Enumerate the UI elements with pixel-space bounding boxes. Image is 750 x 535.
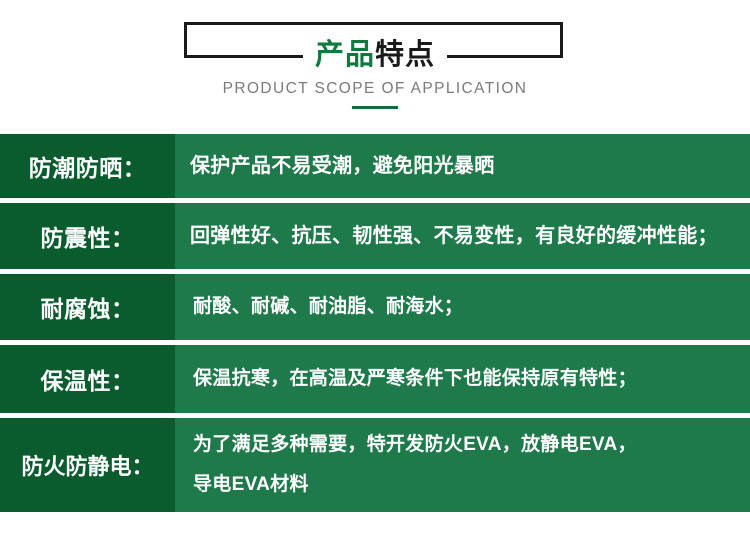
feature-row: 防震性： 回弹性好、抗压、韧性强、不易变性，有良好的缓冲性能； [0, 203, 750, 269]
feature-value: 保护产品不易受潮，避免阳光暴晒 [175, 134, 750, 198]
feature-value: 耐酸、耐碱、耐油脂、耐海水； [175, 274, 750, 340]
subtitle-underline-rule [352, 106, 398, 109]
feature-label: 耐腐蚀： [0, 274, 175, 340]
feature-value: 保温抗寒，在高温及严寒条件下也能保持原有特性； [175, 345, 750, 413]
feature-row: 防火防静电： 为了满足多种需要，特开发防火EVA，放静电EVA， 导电EVA材料 [0, 418, 750, 512]
page-title-green-part: 产品 [303, 39, 375, 71]
feature-label: 防潮防晒： [0, 134, 175, 198]
page-subtitle: PRODUCT SCOPE OF APPLICATION [0, 80, 750, 98]
feature-value-line: 保温抗寒，在高温及严寒条件下也能保持原有特性； [193, 362, 750, 396]
page-title-dark-part: 特点 [375, 39, 447, 71]
page-header: 产品特点 PRODUCT SCOPE OF APPLICATION [0, 0, 750, 122]
feature-label: 防火防静电： [0, 418, 175, 512]
feature-row: 耐腐蚀： 耐酸、耐碱、耐油脂、耐海水； [0, 274, 750, 340]
feature-value-line: 保护产品不易受潮，避免阳光暴晒 [190, 149, 750, 183]
feature-label: 防震性： [0, 203, 175, 269]
feature-row: 保温性： 保温抗寒，在高温及严寒条件下也能保持原有特性； [0, 345, 750, 413]
feature-value-line: 为了满足多种需要，特开发防火EVA，放静电EVA， [193, 425, 750, 465]
feature-value: 回弹性好、抗压、韧性强、不易变性，有良好的缓冲性能； [175, 203, 750, 269]
feature-value-line: 耐酸、耐碱、耐油脂、耐海水； [193, 290, 750, 324]
feature-label: 保温性： [0, 345, 175, 413]
feature-list: 防潮防晒： 保护产品不易受潮，避免阳光暴晒 防震性： 回弹性好、抗压、韧性强、不… [0, 134, 750, 517]
feature-row: 防潮防晒： 保护产品不易受潮，避免阳光暴晒 [0, 134, 750, 198]
feature-value-line: 导电EVA材料 [193, 465, 750, 505]
feature-value-line: 回弹性好、抗压、韧性强、不易变性，有良好的缓冲性能； [190, 219, 750, 253]
page-title: 产品特点 [0, 34, 750, 76]
feature-value: 为了满足多种需要，特开发防火EVA，放静电EVA， 导电EVA材料 [175, 418, 750, 512]
